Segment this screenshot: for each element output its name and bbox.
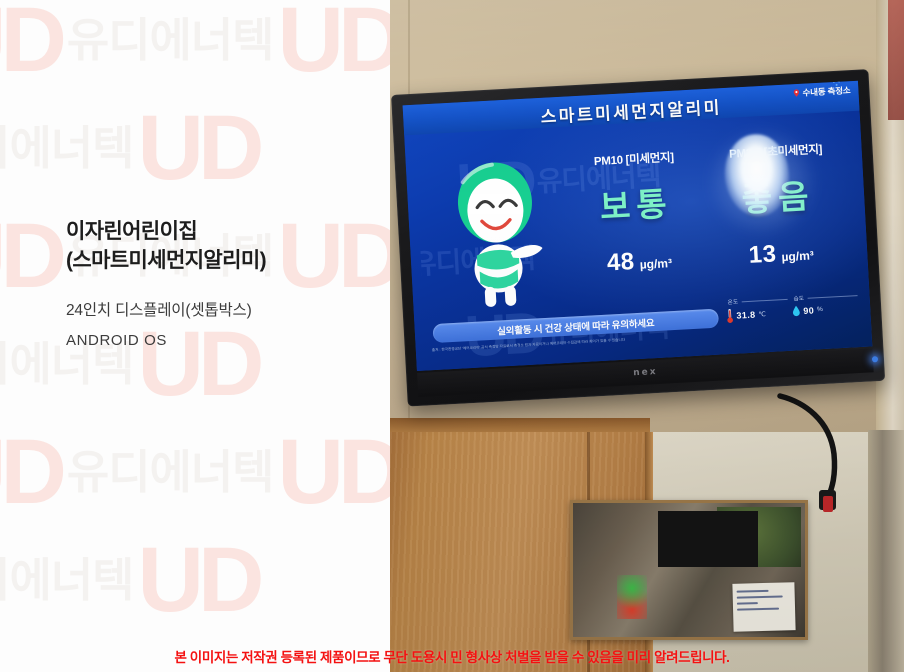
watermark-brand-text: 유디에너텍 (0, 557, 134, 603)
watermark-logo-icon: UD (0, 0, 61, 86)
watermark-logo-icon: UD (138, 102, 259, 194)
humidity-caption: 습도 (793, 294, 804, 303)
pm25-value: 13 (748, 240, 777, 268)
watermark-brand-text: 유디에너텍 (67, 17, 274, 63)
tv-screen[interactable]: UD 유디에너텍 UD 유디에너텍 UD 유디에너텍 스마트미세먼지알리미 (403, 81, 873, 371)
location-pin-icon (792, 89, 800, 97)
humidity-rule (808, 295, 858, 299)
hdmi-power-cable (770, 392, 890, 512)
framed-picture (570, 500, 808, 640)
humidity-unit: % (817, 306, 823, 313)
pm10-grade: 보통 (556, 185, 718, 227)
water-drop-icon (792, 304, 801, 317)
product-title: 이자린어린이집 (스마트미세먼지알리미) (66, 218, 376, 276)
humidity-item: 90 % (792, 303, 823, 318)
wall-red-object (888, 0, 904, 120)
wall-mounted-tv: UD 유디에너텍 UD 유디에너텍 UD 유디에너텍 스마트미세먼지알리미 (391, 69, 898, 420)
temperature-rule (742, 299, 788, 302)
note-line (737, 608, 779, 611)
copyright-notice: 본 이미지는 저작권 등록된 제품이므로 무단 도용시 민 형사상 처벌을 받을… (0, 646, 904, 666)
pm10-value: 48 (606, 248, 635, 276)
note-line (737, 602, 758, 605)
thermometer-icon (726, 308, 734, 324)
watermark-logo-icon: UD (0, 426, 61, 518)
watermark-logo-icon: UD (0, 210, 61, 302)
tv-brand-logo: nex (633, 367, 658, 378)
watermark-logo-icon: UD (278, 0, 391, 86)
pm10-reading-block: PM10 [미세먼지] 보통 48µg/m³ (553, 147, 720, 280)
installation-photo: UD 유디에너텍 UD 유디에너텍 UD 유디에너텍 스마트미세먼지알리미 (390, 0, 904, 672)
frame-indicator-lights (617, 575, 647, 619)
temperature-unit: ℃ (758, 310, 766, 318)
product-info-block: 이자린어린이집 (스마트미세먼지알리미) 24인치 디스플레이(셋톱박스) AN… (66, 218, 376, 355)
handwritten-wifi-note (732, 582, 795, 632)
wifi-icon (830, 81, 844, 88)
note-line (737, 595, 783, 598)
dust-mascot-character (448, 156, 552, 311)
temperature-value: 31.8 (736, 310, 756, 321)
watermark-brand-text: 유디에너텍 (67, 449, 274, 495)
humidity-value: 90 (803, 305, 814, 316)
product-showcase-image: UD 유디에너텍 UD UD 유디에너텍 UD UD 유디에너텍 UD UD 유… (0, 0, 904, 672)
watermark-logo-icon: UD (138, 534, 259, 626)
product-spec-display: 24인치 디스플레이(셋톱박스) (66, 296, 376, 326)
watermark-brand-text: 유디에너텍 (0, 125, 134, 171)
redacted-black-box (658, 511, 758, 567)
measuring-station-label: 수내동 측정소 (802, 84, 850, 99)
left-info-panel: UD 유디에너텍 UD UD 유디에너텍 UD UD 유디에너텍 UD UD 유… (0, 0, 390, 672)
note-line (737, 590, 769, 593)
temperature-caption: 온도 (727, 298, 738, 307)
pm10-unit: µg/m³ (639, 256, 672, 272)
watermark-logo-icon: UD (278, 426, 391, 518)
product-spec-os: ANDROID OS (66, 326, 376, 355)
pm25-unit: µg/m³ (781, 248, 814, 264)
temperature-item: 31.8 ℃ (726, 306, 766, 324)
